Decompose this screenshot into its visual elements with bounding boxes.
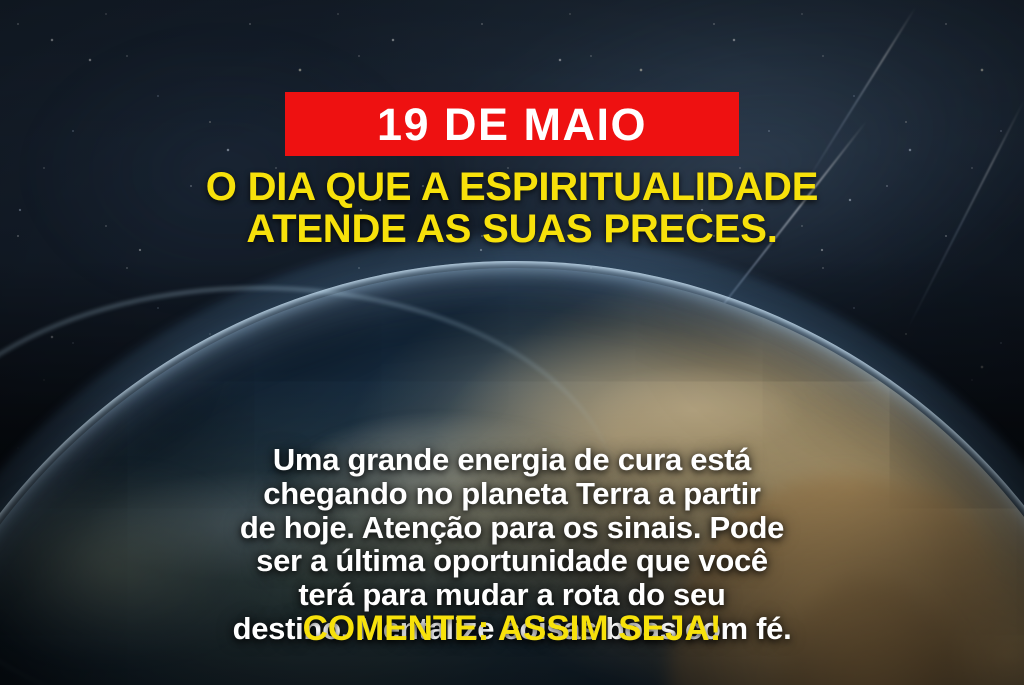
body-line-5: terá para mudar a rota do seu (50, 578, 974, 612)
body-line-3: de hoje. Atenção para os sinais. Pode (50, 511, 974, 545)
headline: O DIA QUE A ESPIRITUALIDADE ATENDE AS SU… (0, 166, 1024, 250)
headline-line-2: ATENDE AS SUAS PRECES. (52, 208, 972, 250)
date-banner-label: 19 DE MAIO (377, 102, 647, 147)
body-line-2: chegando no planeta Terra a partir (50, 477, 974, 511)
date-banner: 19 DE MAIO (285, 92, 739, 156)
headline-line-1: O DIA QUE A ESPIRITUALIDADE (52, 166, 972, 208)
call-to-action: COMENTE: ASSIM SEJA! (0, 611, 1024, 646)
body-line-4: ser a última oportunidade que você (50, 544, 974, 578)
body-line-1: Uma grande energia de cura está (50, 443, 974, 477)
poster-canvas: 19 DE MAIO O DIA QUE A ESPIRITUALIDADE A… (0, 0, 1024, 685)
poster-content: 19 DE MAIO O DIA QUE A ESPIRITUALIDADE A… (0, 0, 1024, 685)
